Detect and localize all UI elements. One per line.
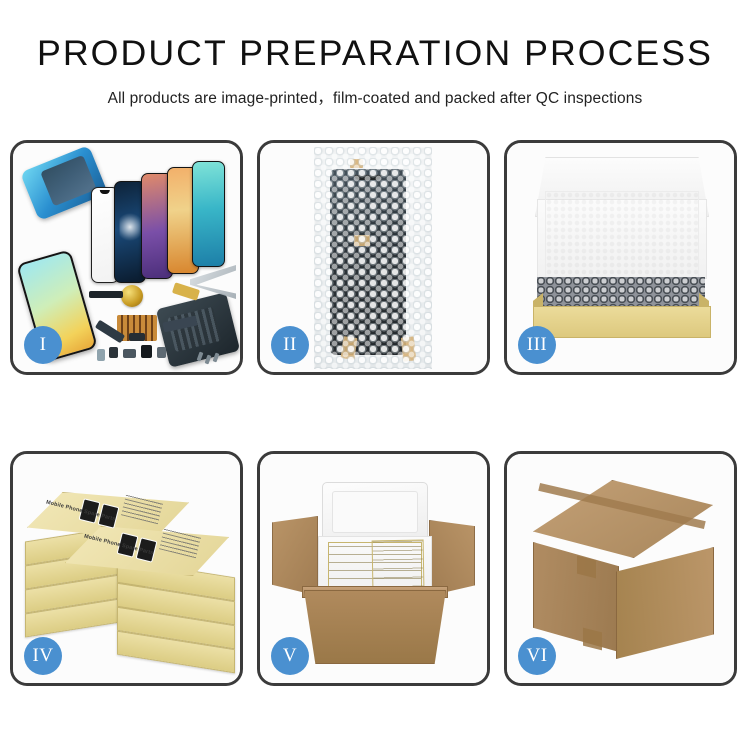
small-part-1-icon — [109, 347, 118, 358]
notch-icon — [100, 190, 110, 194]
process-step-panel-1: I — [10, 140, 243, 375]
step-badge-4: IV — [24, 637, 62, 675]
small-part-5-icon — [129, 333, 145, 341]
step-badge-5: V — [271, 637, 309, 675]
page-title: PRODUCT PREPARATION PROCESS — [0, 36, 750, 73]
carton-flap-right-icon — [429, 520, 475, 596]
product-preparation-process-page: PRODUCT PREPARATION PROCESS All products… — [0, 0, 750, 750]
bubble-wrap-bag-icon — [314, 147, 432, 369]
phone-screen-teal-icon — [192, 161, 225, 267]
foam-sheet-icon — [545, 191, 699, 281]
carton-body-icon — [304, 590, 446, 664]
process-steps-grid: I II — [10, 140, 740, 686]
step-badge-2: II — [271, 326, 309, 364]
box-front-panel-icon — [533, 306, 711, 338]
step-badge-3: III — [518, 326, 556, 364]
process-step-panel-3: III — [504, 140, 737, 375]
process-step-panel-6: VI — [504, 451, 737, 686]
bubble-texture-overlay-icon — [314, 147, 432, 369]
box-stack: Mobile Phone Spare Parts Mobile Phone Sp… — [23, 472, 231, 668]
phone-lineup — [91, 165, 241, 283]
process-step-panel-4: Mobile Phone Spare Parts Mobile Phone Sp… — [10, 451, 243, 686]
foam-cooler-lid-icon — [322, 482, 428, 544]
small-part-4-icon — [157, 347, 166, 358]
carton-left-face-icon — [533, 542, 619, 652]
screws-group-icon — [198, 352, 224, 366]
process-step-panel-5: V — [257, 451, 490, 686]
small-part-2-icon — [123, 349, 136, 358]
page-header: PRODUCT PREPARATION PROCESS All products… — [0, 0, 750, 108]
process-step-panel-2: II — [257, 140, 490, 375]
screen-glare-icon — [120, 210, 141, 244]
vibration-motor-icon — [121, 285, 143, 307]
step-badge-1: I — [24, 326, 62, 364]
page-subtitle: All products are image-printed，film-coat… — [0, 86, 750, 108]
carton-tape-patch-2-icon — [583, 628, 602, 651]
small-part-3-icon — [141, 345, 152, 358]
earpiece-speaker-icon — [89, 291, 123, 298]
carton-right-face-icon — [616, 547, 714, 659]
packed-boxes-right-icon — [372, 540, 425, 589]
bubble-wrapped-contents-icon — [537, 277, 705, 307]
small-part-6-icon — [97, 349, 105, 361]
step-badge-6: VI — [518, 637, 556, 675]
carton-flap-left-icon — [272, 516, 318, 596]
